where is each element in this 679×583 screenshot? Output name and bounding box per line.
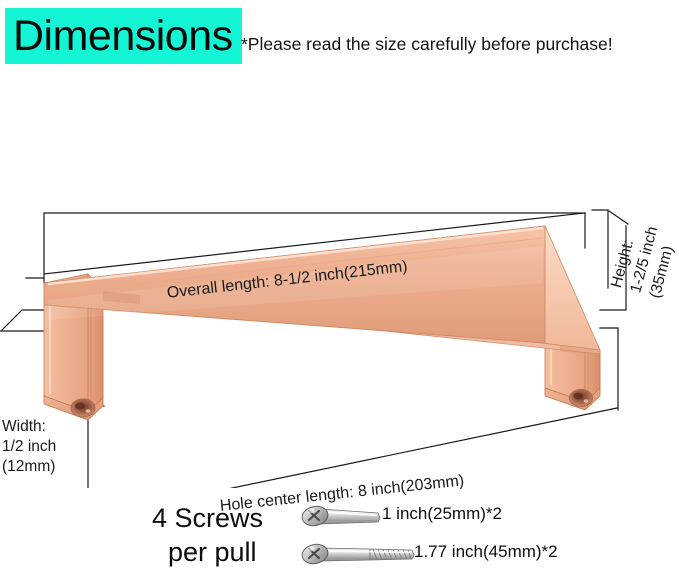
screws-heading-line1: 4 Screws [152, 503, 263, 533]
handle-grip-bar [44, 226, 600, 355]
screw-long-label: 1.77 inch(45mm)*2 [414, 541, 558, 563]
screw-short-label: 1 inch(25mm)*2 [382, 503, 502, 525]
header-note: *Please read the size carefully before p… [241, 33, 613, 55]
screw-row-long [300, 539, 424, 569]
screws-heading-line2: per pull [152, 535, 263, 569]
hole-center-line [88, 408, 617, 488]
screws-heading: 4 Screws per pull [152, 501, 263, 569]
width-label: Width: 1/2 inch (12mm) [2, 417, 56, 477]
handle-body [44, 226, 600, 420]
page-title: Dimensions [13, 9, 233, 63]
screw-long-icon [300, 539, 424, 569]
width-label-line2: 1/2 inch [2, 437, 56, 457]
screws-section: 4 Screws per pull [0, 487, 679, 583]
product-dimension-diagram: Overall length: 8-1/2 inch(215mm) Hole c… [0, 78, 679, 488]
width-label-line1: Width: [2, 417, 56, 437]
hole-center-bracket-right [600, 328, 618, 410]
header: Dimensions *Please read the size careful… [0, 0, 679, 80]
screw-row-short [300, 501, 392, 531]
width-label-line3: (12mm) [2, 457, 56, 477]
height-bracket [592, 210, 608, 288]
screw-short-icon [300, 501, 392, 531]
